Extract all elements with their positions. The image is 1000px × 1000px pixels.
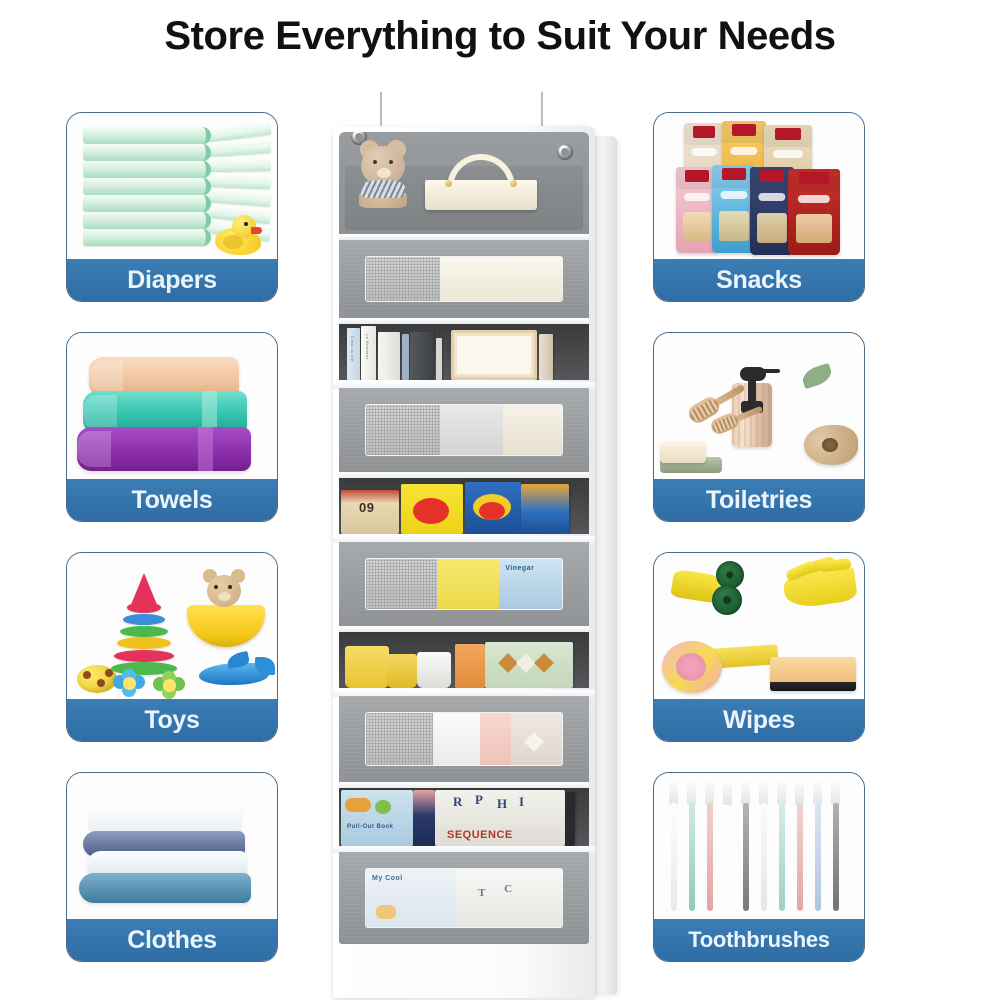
rubber-duck-icon: [215, 215, 261, 255]
organizer-tier-5-open-shelf: Pull-Out Book R P H I SEQUENCE: [339, 788, 589, 848]
teddy-bear-icon: [353, 140, 413, 206]
category-card-clothes[interactable]: Clothes: [66, 772, 278, 962]
category-card-snacks[interactable]: Snacks: [653, 112, 865, 302]
mesh-window: Vinegar: [365, 558, 563, 610]
flower-toy-icon: [113, 669, 147, 699]
card-label-clothes: Clothes: [67, 919, 277, 961]
rubber-glove-icon: [782, 564, 858, 610]
category-card-towels[interactable]: Towels: [66, 332, 278, 522]
mesh-window: My Cool T C: [365, 868, 563, 928]
soap-bar-icon: [660, 441, 706, 463]
organizer-frame: C'est la Vie Le Bonheur: [333, 126, 595, 998]
toys-icon: [67, 553, 277, 701]
organizer-tier-4-open-shelf: [339, 632, 589, 690]
card-label-towels: Towels: [67, 479, 277, 521]
page-title: Store Everything to Suit Your Needs: [0, 14, 1000, 59]
hanging-strap: [380, 92, 382, 128]
card-label-snacks: Snacks: [654, 259, 864, 301]
toothbrushes-icon: [654, 773, 864, 921]
organizer-tier-1-mesh-pocket: [339, 240, 589, 318]
sponge-icon: [770, 657, 856, 691]
handbag-icon: [425, 154, 537, 210]
mesh-window: [365, 712, 563, 766]
organizer-tier-1-open-shelf: [339, 132, 589, 236]
organizer-tier-2-mesh-pocket: [339, 388, 589, 472]
card-label-diapers: Diapers: [67, 259, 277, 301]
hanging-closet-organizer: C'est la Vie Le Bonheur: [333, 92, 621, 1000]
card-label-wipes: Wipes: [654, 699, 864, 741]
card-label-toys: Toys: [67, 699, 277, 741]
card-label-toiletries: Toiletries: [654, 479, 864, 521]
organizer-tier-3-mesh-pocket: Vinegar: [339, 542, 589, 626]
diaper-stack-icon: [67, 113, 277, 261]
card-label-toothbrushes: Toothbrushes: [654, 919, 864, 961]
organizer-tier-3-open-shelf: 09: [339, 478, 589, 536]
right-card-column: Snacks Toiletries: [653, 112, 865, 962]
category-card-toiletries: Toiletries: [653, 332, 865, 522]
dolphin-toy-icon: [199, 653, 273, 687]
left-card-column: Diapers Towels: [66, 112, 278, 962]
category-card-toothbrushes: Toothbrushes: [653, 772, 865, 962]
organizer-tier-5-mesh-pocket: My Cool T C: [339, 852, 589, 944]
organizer-tier-2-open-shelf: C'est la Vie Le Bonheur: [339, 324, 589, 382]
organizer-tier-4-mesh-pocket: [339, 696, 589, 782]
soap-dispenser-icon: [732, 355, 772, 447]
teddy-bear-icon: [197, 567, 251, 619]
category-card-toys[interactable]: Toys: [66, 552, 278, 742]
mesh-window: [365, 404, 563, 456]
ball-toy-icon: [77, 665, 117, 693]
wipes-icon: [654, 553, 864, 701]
rolled-cloth-icon: [662, 641, 722, 693]
category-card-diapers[interactable]: Diapers: [66, 112, 278, 302]
hanging-strap: [541, 92, 543, 128]
mesh-window: [365, 256, 563, 302]
flower-toy-icon: [153, 671, 187, 701]
toiletries-icon: [654, 333, 864, 481]
folded-towels-icon: [67, 333, 277, 481]
snack-bags-icon: [654, 113, 864, 261]
folded-clothes-icon: [67, 773, 277, 921]
grommet-icon: [557, 144, 573, 160]
scrub-pad-icon: [712, 585, 742, 615]
rolled-towel-icon: [804, 425, 858, 465]
category-card-wipes: Wipes: [653, 552, 865, 742]
